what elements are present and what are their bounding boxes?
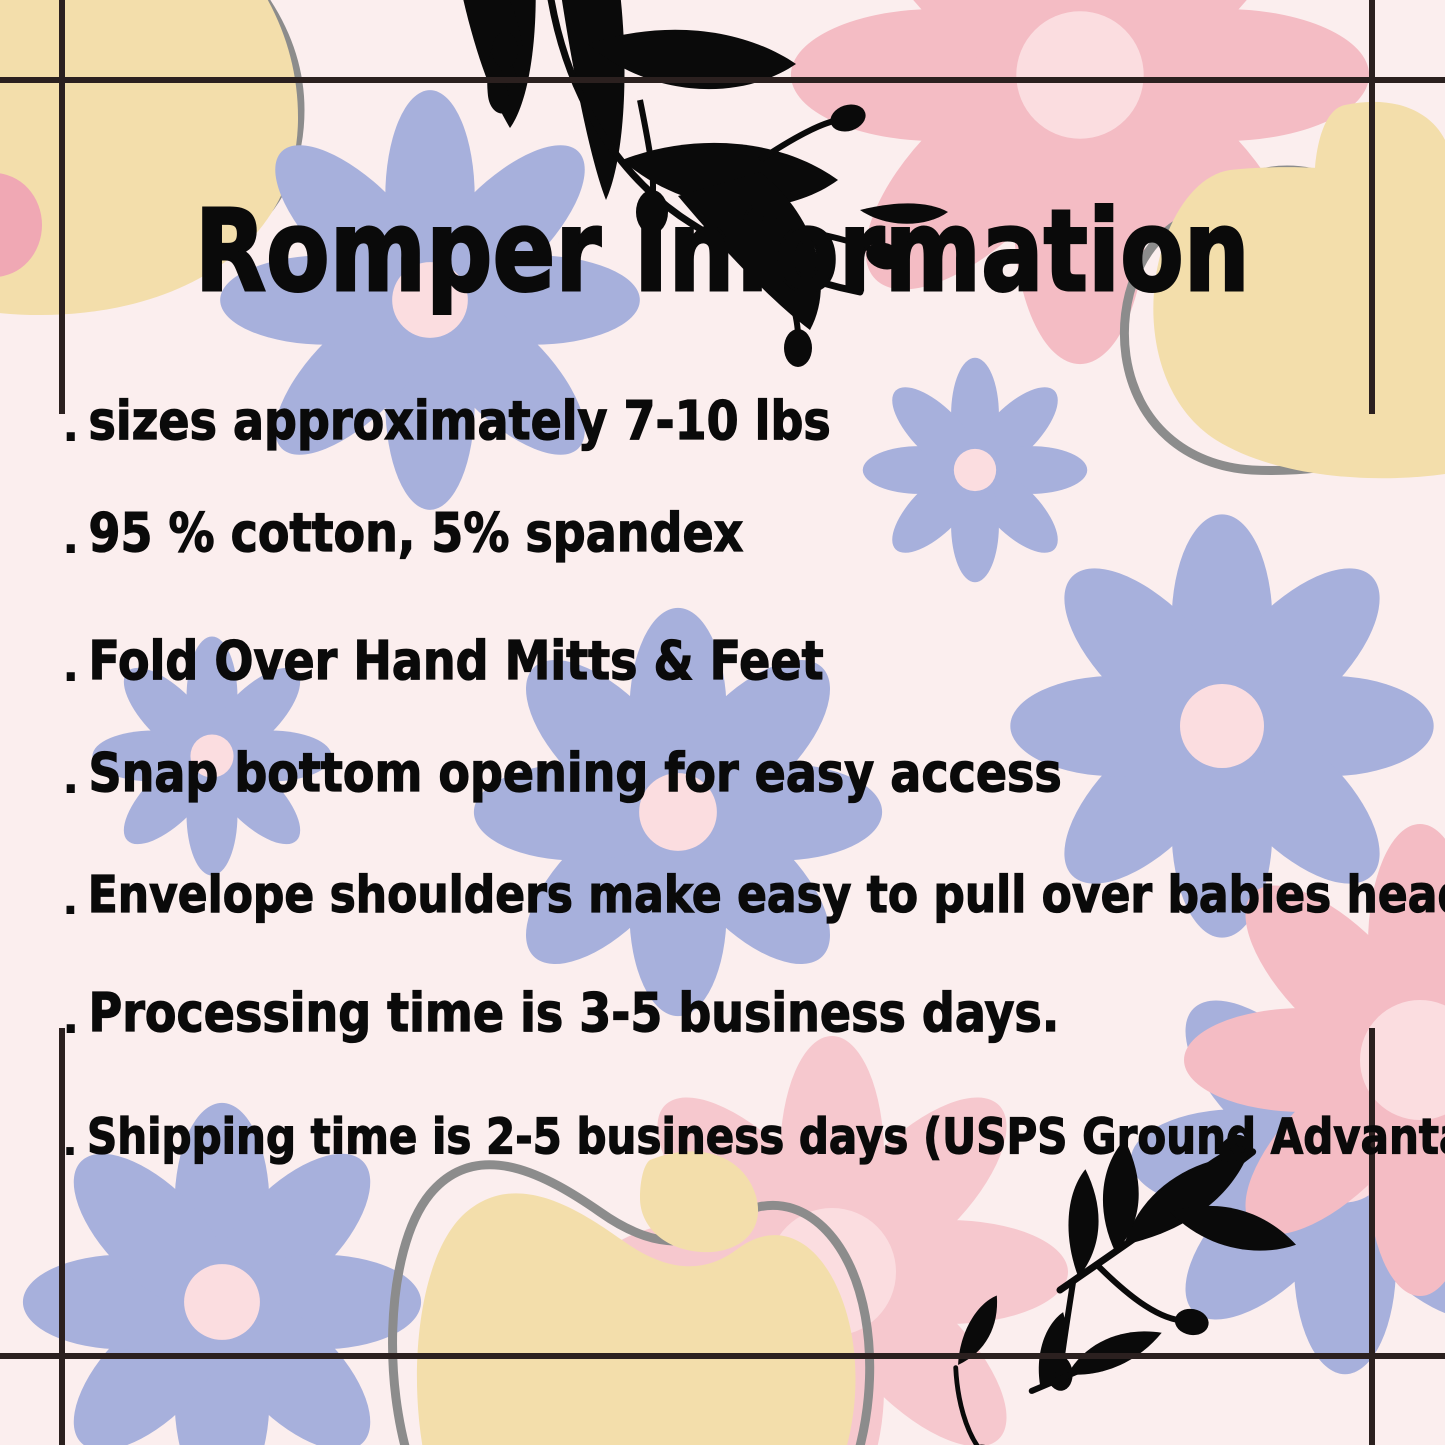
bullet-marker-icon: . <box>62 1116 78 1165</box>
bullet-marker-icon: . <box>62 398 79 452</box>
list-item: . 95 % cotton, 5% spandex <box>62 510 743 564</box>
bullet-marker-icon: . <box>62 990 79 1044</box>
list-item: . Envelope shoulders make easy to pull o… <box>62 874 1445 925</box>
bullet-marker-icon: . <box>62 510 79 564</box>
bullet-marker-icon: . <box>62 750 79 804</box>
flower-center <box>954 449 996 491</box>
list-item-label: Fold Over Hand Mitts & Feet <box>88 629 823 692</box>
list-item: . Snap bottom opening for easy access <box>62 750 1062 804</box>
list-item: . Shipping time is 2-5 business days (US… <box>62 1116 1445 1165</box>
flower-center <box>1016 11 1143 138</box>
list-item: . Fold Over Hand Mitts & Feet <box>62 638 824 692</box>
list-item-label: sizes approximately 7-10 lbs <box>88 389 830 452</box>
romper-information-graphic: Romper Information . sizes approximately… <box>0 0 1445 1445</box>
list-item: . Processing time is 3-5 business days. <box>62 990 1059 1044</box>
bullet-marker-icon: . <box>62 638 79 692</box>
periwinkle-daisy-upper-right <box>863 358 1087 582</box>
list-item-label: Processing time is 3-5 business days. <box>88 981 1059 1044</box>
page-title: Romper Information <box>0 196 1445 308</box>
list-item-label: Envelope shoulders make easy to pull ove… <box>88 866 1445 925</box>
flower-center <box>1180 684 1264 768</box>
list-item-label: Snap bottom opening for easy access <box>88 741 1061 804</box>
list-item-label: 95 % cotton, 5% spandex <box>88 501 743 564</box>
list-item: . sizes approximately 7-10 lbs <box>62 398 831 452</box>
flower-center <box>184 1264 260 1340</box>
list-item-label: Shipping time is 2-5 business days (USPS… <box>87 1108 1445 1165</box>
bullet-marker-icon: . <box>62 874 79 925</box>
